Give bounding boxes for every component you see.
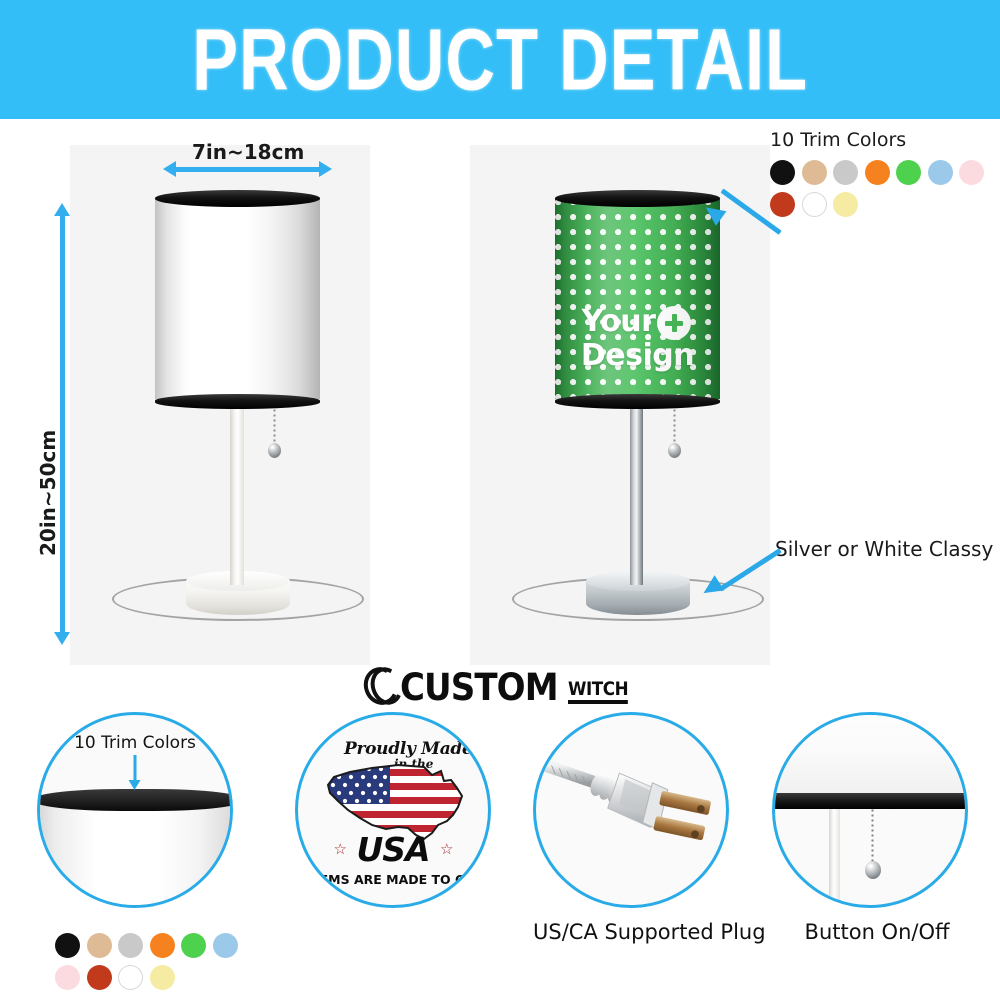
shade-trim-top-right: [555, 190, 720, 207]
feature-plug: US/CA Supported Plug: [533, 712, 743, 908]
pull-chain-ball-closeup[interactable]: [865, 861, 881, 879]
trim-swatch-white[interactable]: [118, 965, 143, 990]
trim-swatch-orange[interactable]: [150, 933, 175, 958]
page-title: PRODUCT DETAIL: [192, 9, 808, 109]
power-plug-icon: [536, 715, 726, 905]
trim-swatch-tan[interactable]: [802, 160, 827, 185]
trim-swatch-red[interactable]: [87, 965, 112, 990]
usa-badge: Proudly Made in the: [298, 715, 488, 905]
feature-circle-3: [533, 712, 729, 908]
trim-swatch-yellow[interactable]: [833, 192, 858, 217]
feature-4-caption: Button On/Off: [772, 920, 982, 944]
trim-swatch-tan[interactable]: [87, 933, 112, 958]
feature-trim-colors: 10 Trim Colors: [37, 712, 247, 908]
star-left-icon: ☆: [333, 840, 345, 858]
shade-closeup-trim: [37, 789, 233, 811]
width-dimension-label: 7in~18cm: [192, 140, 304, 164]
shade-gloss-left: [155, 199, 320, 399]
trim-swatch-pink[interactable]: [959, 160, 984, 185]
your-design-text: Your Design: [555, 306, 720, 372]
trim-swatch-light-blue[interactable]: [213, 933, 238, 958]
lamp-pole-left: [230, 399, 244, 585]
header-banner: PRODUCT DETAIL: [0, 0, 1000, 119]
logo-c-icon: [364, 666, 402, 706]
arrow-to-trim-icon: [700, 164, 790, 224]
usa-badge-note: ALL ITEMS ARE MADE TO ORDER!: [295, 872, 491, 887]
trim-swatch-light-blue[interactable]: [928, 160, 953, 185]
shade-surface-left: [155, 199, 320, 399]
arrow-to-base-icon: [700, 559, 790, 619]
star-right-icon: ☆: [440, 840, 452, 858]
shade-trim-bottom-left: [155, 394, 320, 409]
feature-circle-4: [772, 712, 968, 908]
feature-circle-2: Proudly Made in the: [295, 712, 491, 908]
lamp-pole-right: [630, 399, 643, 585]
shade-trim-top-left: [155, 190, 320, 207]
shade-closeup: [37, 789, 233, 908]
lamp-pole-closeup: [829, 809, 840, 908]
trim-swatch-orange[interactable]: [865, 160, 890, 185]
trim-colors-panel: 10 Trim Colors: [770, 129, 1000, 217]
trim-colors-label: 10 Trim Colors: [770, 129, 1000, 151]
height-dimension-arrow: [60, 215, 65, 633]
product-detail-page: PRODUCT DETAIL: [0, 0, 1000, 1000]
down-arrow-icon: [134, 755, 137, 781]
base-finish-label: Silver or White Classy: [775, 537, 993, 561]
feature-swatches: [55, 933, 255, 990]
shade-bottom-closeup: [772, 712, 968, 799]
trim-swatch-gray[interactable]: [833, 160, 858, 185]
shade-trim-bottom-right: [555, 394, 720, 409]
pull-chain-ball-left[interactable]: [268, 443, 281, 458]
design-line-1: Your: [582, 304, 656, 339]
shade-surface-right: Your Design: [555, 199, 720, 399]
plus-circle-icon: [657, 306, 691, 340]
feature-3-caption: US/CA Supported Plug: [533, 920, 743, 944]
trim-swatch-white[interactable]: [802, 192, 827, 217]
brand-logo: CUSTOM WITCH: [0, 662, 1000, 710]
trim-swatch-pink[interactable]: [55, 965, 80, 990]
logo-primary-text: CUSTOM: [400, 669, 558, 706]
white-lamp: [110, 119, 390, 665]
feature-button-onoff: Button On/Off: [772, 712, 982, 908]
feature-made-in-usa: Proudly Made in the: [295, 712, 505, 908]
design-line-2: Design: [581, 338, 694, 373]
feature-circle-1: 10 Trim Colors: [37, 712, 233, 908]
usa-badge-country: ☆ USA ☆: [333, 830, 452, 869]
feature-1-label: 10 Trim Colors: [74, 733, 196, 753]
trim-colors-swatches: [770, 160, 1000, 217]
trim-swatch-green[interactable]: [181, 933, 206, 958]
shade-bottom-trim: [772, 793, 968, 809]
trim-swatch-black[interactable]: [55, 933, 80, 958]
main-stage: 7in~18cm 20in~50cm Your Design: [0, 119, 1000, 665]
pull-chain-closeup[interactable]: [871, 809, 874, 865]
trim-swatch-gray[interactable]: [118, 933, 143, 958]
logo-secondary-text: WITCH: [568, 680, 628, 704]
pull-chain-ball-right[interactable]: [668, 443, 681, 458]
width-dimension-arrow: [175, 167, 320, 172]
trim-swatch-green[interactable]: [896, 160, 921, 185]
lamp-shade-right: Your Design: [555, 190, 720, 409]
lamp-shade-left: [155, 190, 320, 409]
height-dimension-label: 20in~50cm: [36, 430, 60, 556]
trim-swatch-yellow[interactable]: [150, 965, 175, 990]
feature-panels: 10 Trim Colors Proudly Made in the: [0, 712, 1000, 1000]
shade-closeup-body: [37, 803, 233, 908]
